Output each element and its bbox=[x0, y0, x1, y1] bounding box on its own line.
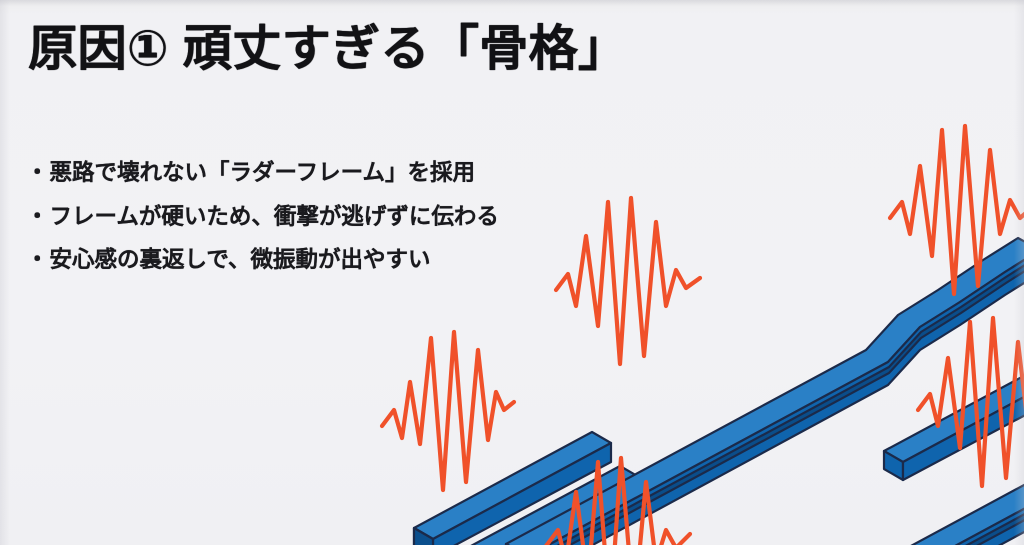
bullet-marker-icon: ・ bbox=[26, 249, 49, 272]
vibration-wave bbox=[556, 198, 700, 364]
vibration-wave bbox=[382, 332, 514, 490]
list-item: ・ 安心感の裏返しで、微振動が出やすい bbox=[26, 249, 499, 272]
list-item-label: フレームが硬いため、衝撃が逃げずに伝わる bbox=[50, 206, 499, 229]
slide-canvas: 原因① 頑丈すぎる「骨格」 ・ 悪路で壊れない「ラダーフレーム」を採用 ・ フレ… bbox=[0, 0, 1024, 545]
list-item-label: 悪路で壊れない「ラダーフレーム」を採用 bbox=[50, 162, 475, 185]
list-item: ・ フレームが硬いため、衝撃が逃げずに伝わる bbox=[26, 206, 499, 229]
bullet-marker-icon: ・ bbox=[26, 206, 49, 229]
bullet-marker-icon: ・ bbox=[26, 162, 49, 185]
bullet-list: ・ 悪路で壊れない「ラダーフレーム」を採用 ・ フレームが硬いため、衝撃が逃げず… bbox=[26, 162, 499, 293]
list-item: ・ 悪路で壊れない「ラダーフレーム」を採用 bbox=[26, 162, 499, 185]
page-title: 原因① 頑丈すぎる「骨格」 bbox=[28, 22, 627, 77]
list-item-label: 安心感の裏返しで、微振動が出やすい bbox=[50, 249, 431, 272]
